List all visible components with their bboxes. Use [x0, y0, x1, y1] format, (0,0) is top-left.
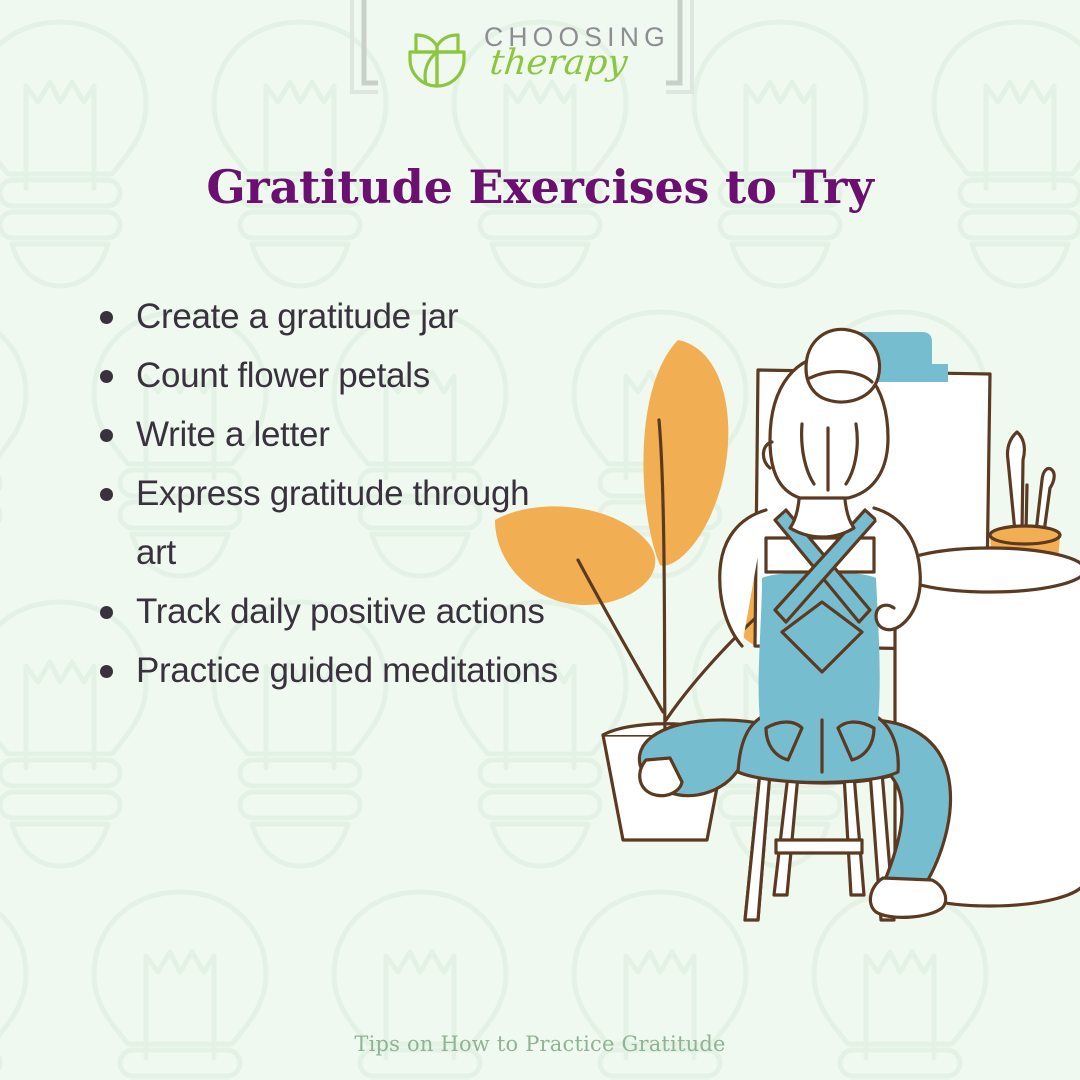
footer-caption: Tips on How to Practice Gratitude: [0, 1032, 1080, 1056]
list-item: Practice guided meditations: [92, 641, 562, 700]
bullet-icon: [100, 606, 113, 619]
list-item-label: Track daily positive actions: [136, 592, 545, 631]
list-item-label: Count flower petals: [136, 356, 430, 395]
bullet-icon: [100, 488, 113, 501]
bullet-icon: [100, 665, 113, 678]
lotus-leaf-icon: [406, 32, 468, 95]
bullet-icon: [100, 429, 113, 442]
list-item: Track daily positive actions: [92, 582, 562, 641]
brand-logo: CHOOSING therapy: [0, 24, 1080, 102]
list-item: Express gratitude through art: [92, 464, 562, 582]
list-item-label: Create a gratitude jar: [136, 297, 458, 336]
list-item-label: Express gratitude through art: [136, 474, 529, 572]
tips-list: Create a gratitude jar Count flower peta…: [92, 287, 562, 700]
list-item: Write a letter: [92, 405, 562, 464]
bullet-icon: [100, 311, 113, 324]
brand-wordmark: CHOOSING therapy: [484, 24, 670, 51]
list-item: Create a gratitude jar: [92, 287, 562, 346]
list-item-label: Practice guided meditations: [136, 651, 558, 690]
bullet-icon: [100, 370, 113, 383]
list-item: Count flower petals: [92, 346, 562, 405]
page-title: Gratitude Exercises to Try: [0, 160, 1080, 214]
list-item-label: Write a letter: [136, 415, 330, 454]
brand-name-secondary: therapy: [488, 46, 629, 81]
